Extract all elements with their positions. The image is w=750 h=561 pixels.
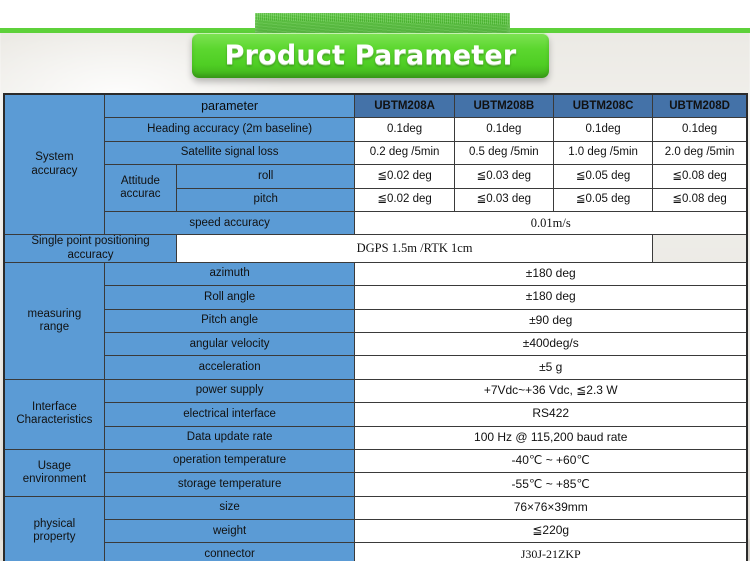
param-name-pitch: pitch	[176, 188, 354, 211]
param-name-pitch-angle: Pitch angle	[104, 309, 355, 332]
param-subgroup-line1: Attitude	[121, 175, 160, 187]
value-satellite-signal-loss-d: 2.0 deg /5min	[653, 141, 747, 164]
value-roll-d: ≦0.08 deg	[653, 165, 747, 188]
column-header-parameter: parameter	[104, 94, 355, 118]
value-heading-accuracy-d: 0.1deg	[653, 118, 747, 141]
row-group-label-line2: property	[33, 531, 75, 543]
table-row: measuring range azimuth ±180 deg	[4, 262, 747, 285]
value-size: 76×76×39mm	[355, 496, 747, 519]
table-row: angular velocity ±400deg/s	[4, 332, 747, 355]
table-row: speed accuracy 0.01m/s	[4, 211, 747, 234]
param-name-roll: roll	[176, 165, 354, 188]
table-row: Roll angle ±180 deg	[4, 286, 747, 309]
param-name-angular-velocity: angular velocity	[104, 332, 355, 355]
row-group-label-line2: environment	[23, 473, 86, 485]
param-name-connector: connector	[104, 543, 355, 561]
value-pitch-c: ≦0.05 deg	[553, 188, 652, 211]
param-name-operation-temperature: operation temperature	[104, 449, 355, 472]
value-storage-temperature: -55℃ ~ +85℃	[355, 473, 747, 496]
table-row: electrical interface RS422	[4, 403, 747, 426]
table-row: physical property size 76×76×39mm	[4, 496, 747, 519]
table-row: Heading accuracy (2m baseline) 0.1deg 0.…	[4, 118, 747, 141]
product-parameter-banner: Product Parameter	[192, 33, 549, 78]
value-roll-a: ≦0.02 deg	[355, 165, 454, 188]
row-group-label-line1: System	[35, 151, 73, 163]
table-row: Single point positioning accuracy DGPS 1…	[4, 235, 747, 262]
value-angular-velocity: ±400deg/s	[355, 332, 747, 355]
row-group-label-line2: accuracy	[31, 165, 77, 177]
value-satellite-signal-loss-b: 0.5 deg /5min	[454, 141, 553, 164]
value-satellite-signal-loss-a: 0.2 deg /5min	[355, 141, 454, 164]
row-group-label-line1: measuring	[28, 308, 82, 320]
param-name-single-point-positioning-accuracy: Single point positioning accuracy	[4, 235, 176, 262]
page-title: Product Parameter	[225, 40, 517, 71]
row-group-label-line2: range	[40, 321, 69, 333]
value-pitch-b: ≦0.03 deg	[454, 188, 553, 211]
value-weight: ≦220g	[355, 520, 747, 543]
row-group-label-line1: Usage	[38, 460, 71, 472]
table-row: Attitude accurac roll ≦0.02 deg ≦0.03 de…	[4, 165, 747, 188]
value-acceleration: ±5 g	[355, 356, 747, 379]
table-row: connector J30J-21ZKP	[4, 543, 747, 561]
table-row: weight ≦220g	[4, 520, 747, 543]
value-heading-accuracy-c: 0.1deg	[553, 118, 652, 141]
row-group-label-usage-environment: Usage environment	[4, 449, 104, 496]
column-header-model-a: UBTM208A	[355, 94, 454, 118]
column-header-model-b: UBTM208B	[454, 94, 553, 118]
value-power-supply: +7Vdc~+36 Vdc, ≦2.3 W	[355, 379, 747, 402]
value-roll-angle: ±180 deg	[355, 286, 747, 309]
value-roll-b: ≦0.03 deg	[454, 165, 553, 188]
banner-ribbon-backplate	[255, 13, 510, 35]
table-row: Satellite signal loss 0.2 deg /5min 0.5 …	[4, 141, 747, 164]
spec-table-container: System accuracy parameter UBTM208A UBTM2…	[3, 93, 748, 561]
value-pitch-d: ≦0.08 deg	[653, 188, 747, 211]
value-azimuth: ±180 deg	[355, 262, 747, 285]
value-satellite-signal-loss-c: 1.0 deg /5min	[553, 141, 652, 164]
row-group-label-measuring-range: measuring range	[4, 262, 104, 379]
value-heading-accuracy-a: 0.1deg	[355, 118, 454, 141]
value-pitch-angle: ±90 deg	[355, 309, 747, 332]
table-row: Usage environment operation temperature …	[4, 449, 747, 472]
row-group-label-system-accuracy: System accuracy	[4, 94, 104, 235]
table-row: Data update rate 100 Hz @ 115,200 baud r…	[4, 426, 747, 449]
param-name-acceleration: acceleration	[104, 356, 355, 379]
param-name-azimuth: azimuth	[104, 262, 355, 285]
table-row: acceleration ±5 g	[4, 356, 747, 379]
table-row: Pitch angle ±90 deg	[4, 309, 747, 332]
row-group-label-line2: Characteristics	[16, 414, 92, 426]
param-name-speed-accuracy: speed accuracy	[104, 211, 355, 234]
column-header-model-d: UBTM208D	[653, 94, 747, 118]
param-name-storage-temperature: storage temperature	[104, 473, 355, 496]
param-name-size: size	[104, 496, 355, 519]
param-name-data-update-rate: Data update rate	[104, 426, 355, 449]
value-electrical-interface: RS422	[355, 403, 747, 426]
value-single-point-positioning-accuracy: DGPS 1.5m /RTK 1cm	[176, 235, 652, 262]
param-name-weight: weight	[104, 520, 355, 543]
table-row: Interface Characteristics power supply +…	[4, 379, 747, 402]
page-root: Product Parameter System accuracy	[0, 0, 750, 561]
param-name-roll-angle: Roll angle	[104, 286, 355, 309]
table-header-row: System accuracy parameter UBTM208A UBTM2…	[4, 94, 747, 118]
value-operation-temperature: -40℃ ~ +60℃	[355, 449, 747, 472]
param-subgroup-attitude-accuracy: Attitude accurac	[104, 165, 176, 212]
param-name-satellite-signal-loss: Satellite signal loss	[104, 141, 355, 164]
column-header-model-c: UBTM208C	[553, 94, 652, 118]
param-name-heading-accuracy: Heading accuracy (2m baseline)	[104, 118, 355, 141]
value-speed-accuracy: 0.01m/s	[355, 211, 747, 234]
table-row: storage temperature -55℃ ~ +85℃	[4, 473, 747, 496]
value-heading-accuracy-b: 0.1deg	[454, 118, 553, 141]
product-parameter-table: System accuracy parameter UBTM208A UBTM2…	[3, 93, 748, 561]
value-roll-c: ≦0.05 deg	[553, 165, 652, 188]
row-group-label-line1: Interface	[32, 401, 77, 413]
value-data-update-rate: 100 Hz @ 115,200 baud rate	[355, 426, 747, 449]
value-pitch-a: ≦0.02 deg	[355, 188, 454, 211]
param-subgroup-line2: accurac	[120, 188, 160, 200]
row-group-label-line1: physical	[34, 518, 76, 530]
param-name-electrical-interface: electrical interface	[104, 403, 355, 426]
param-name-power-supply: power supply	[104, 379, 355, 402]
row-group-label-physical-property: physical property	[4, 496, 104, 561]
value-connector: J30J-21ZKP	[355, 543, 747, 561]
row-group-label-interface-characteristics: Interface Characteristics	[4, 379, 104, 449]
